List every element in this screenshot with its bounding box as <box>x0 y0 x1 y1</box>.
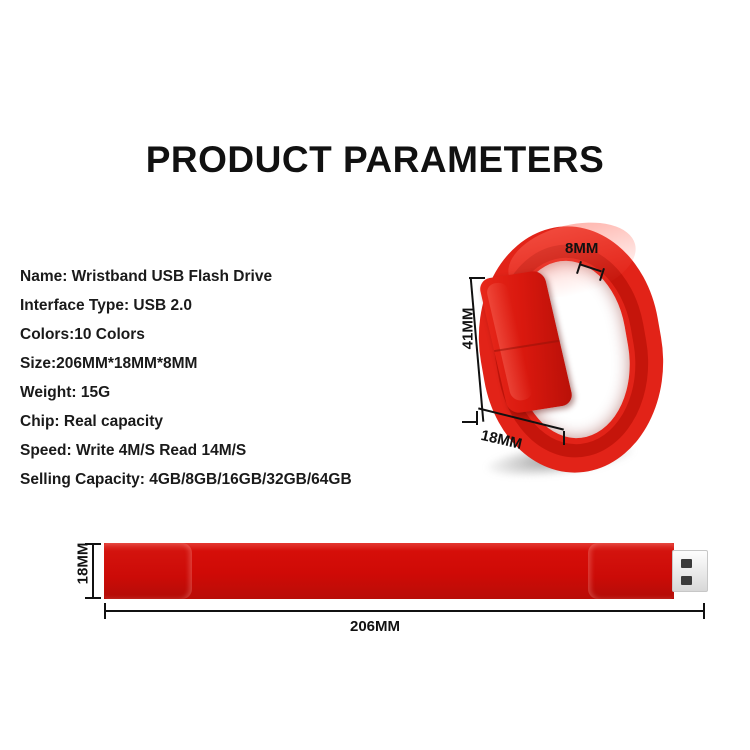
spec-line-chip: Chip: Real capacity <box>20 407 440 436</box>
spec-line-size: Size:206MM*18MM*8MM <box>20 349 440 378</box>
usb-connector-icon <box>672 550 708 592</box>
usb-contact-pad-bottom <box>681 576 692 585</box>
spec-line-speed: Speed: Write 4M/S Read 14M/S <box>20 436 440 465</box>
dimension-label-8mm: 8MM <box>565 240 598 257</box>
strap-end-right <box>588 543 674 599</box>
dimension-cap-strap-206mm-right <box>703 603 705 619</box>
wristband-flat-strap <box>104 543 708 599</box>
strap-end-left <box>104 543 192 599</box>
specification-list: Name: Wristband USB Flash Drive Interfac… <box>20 262 440 494</box>
dimension-line-strap-206mm <box>104 610 705 612</box>
spec-line-selling-capacity: Selling Capacity: 4GB/8GB/16GB/32GB/64GB <box>20 465 440 494</box>
spec-line-interface-type: Interface Type: USB 2.0 <box>20 291 440 320</box>
spec-line-name: Name: Wristband USB Flash Drive <box>20 262 440 291</box>
dimension-cap-18mm-right <box>563 431 565 445</box>
spec-line-weight: Weight: 15G <box>20 378 440 407</box>
dimension-cap-18mm-left <box>476 411 478 425</box>
dimension-label-41mm: 41MM <box>459 308 476 350</box>
dimension-cap-strap-18mm-bottom <box>85 597 101 599</box>
wristband-bracelet-photo: 41MM 8MM 18MM <box>455 215 705 505</box>
dimension-label-strap-18mm: 18MM <box>74 543 91 585</box>
product-parameters-page: PRODUCT PARAMETERS Name: Wristband USB F… <box>0 0 750 750</box>
spec-line-colors: Colors:10 Colors <box>20 320 440 349</box>
usb-contact-pad-top <box>681 559 692 568</box>
page-title: PRODUCT PARAMETERS <box>0 139 750 181</box>
dimension-cap-41mm-top <box>469 277 485 279</box>
dimension-label-strap-206mm: 206MM <box>0 618 750 635</box>
dimension-cap-strap-206mm-left <box>104 603 106 619</box>
dimension-line-strap-18mm <box>92 543 94 599</box>
strap-top-gloss <box>104 543 674 551</box>
